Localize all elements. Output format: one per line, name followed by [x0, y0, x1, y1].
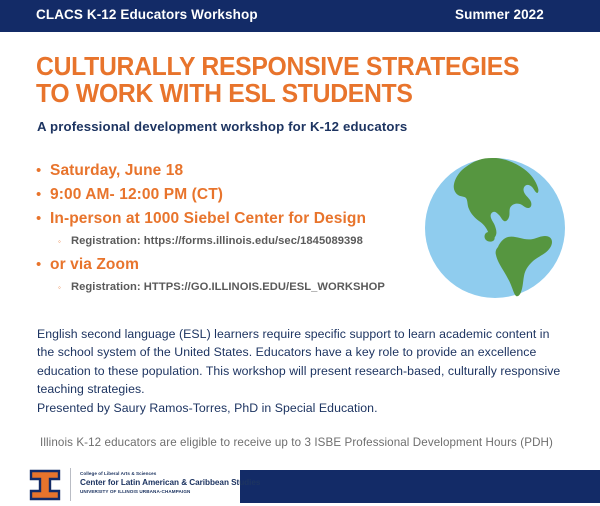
zoom-registration-link[interactable]: Registration: HTTPS://GO.ILLINOIS.EDU/ES…: [71, 278, 385, 297]
page-title-line-2: TO WORK WITH ESL STUDENTS: [36, 81, 492, 108]
page-title-line-1: CULTURALLY RESPONSIVE STRATEGIES: [36, 54, 492, 81]
bullet-dot-icon: •: [36, 254, 50, 276]
page-title: CULTURALLY RESPONSIVE STRATEGIES TO WORK…: [36, 54, 506, 108]
bullet-circle-icon: ◦: [58, 278, 71, 297]
flyer-page: { "colors": { "navy": "#132B67", "navy_t…: [0, 0, 600, 503]
list-item: • Saturday, June 18: [36, 160, 421, 182]
footer-navy-block: [240, 470, 600, 503]
event-location: In-person at 1000 Siebel Center for Desi…: [50, 208, 366, 230]
list-item: • In-person at 1000 Siebel Center for De…: [36, 208, 421, 230]
list-item: • 9:00 AM- 12:00 PM (CT): [36, 184, 421, 206]
footer-university-line: UNIVERSITY OF ILLINOIS URBANA-CHAMPAIGN: [80, 488, 235, 496]
footer-center-line: Center for Latin American & Caribbean St…: [80, 477, 235, 488]
page-subtitle: A professional development workshop for …: [37, 119, 407, 134]
description-paragraph: English second language (ESL) learners r…: [37, 325, 567, 399]
event-time: 9:00 AM- 12:00 PM (CT): [50, 184, 223, 206]
event-date: Saturday, June 18: [50, 160, 183, 182]
footer-unit-name: College of Liberal Arts & Sciences Cente…: [80, 470, 235, 496]
event-zoom-option: or via Zoom: [50, 254, 139, 276]
event-details-list: • Saturday, June 18 • 9:00 AM- 12:00 PM …: [36, 160, 421, 300]
bullet-dot-icon: •: [36, 208, 50, 230]
header-workshop-title: CLACS K-12 Educators Workshop: [36, 7, 258, 22]
bullet-dot-icon: •: [36, 184, 50, 206]
in-person-registration-link[interactable]: Registration: https://forms.illinois.edu…: [71, 232, 363, 251]
globe-americas-icon: [424, 157, 566, 299]
illinois-block-i-logo: [28, 469, 62, 501]
bullet-dot-icon: •: [36, 160, 50, 182]
bullet-circle-icon: ◦: [58, 232, 71, 251]
list-item-sub[interactable]: ◦ Registration: HTTPS://GO.ILLINOIS.EDU/…: [36, 278, 421, 297]
footer-divider: [70, 468, 71, 501]
list-item-sub[interactable]: ◦ Registration: https://forms.illinois.e…: [36, 232, 421, 251]
header-term-label: Summer 2022: [455, 7, 544, 22]
presenter-line: Presented by Saury Ramos-Torres, PhD in …: [37, 399, 567, 417]
footer-college-line: College of Liberal Arts & Sciences: [80, 470, 235, 477]
description-block: English second language (ESL) learners r…: [37, 325, 567, 417]
list-item: • or via Zoom: [36, 254, 421, 276]
pdh-eligibility-note: Illinois K-12 educators are eligible to …: [40, 436, 553, 449]
